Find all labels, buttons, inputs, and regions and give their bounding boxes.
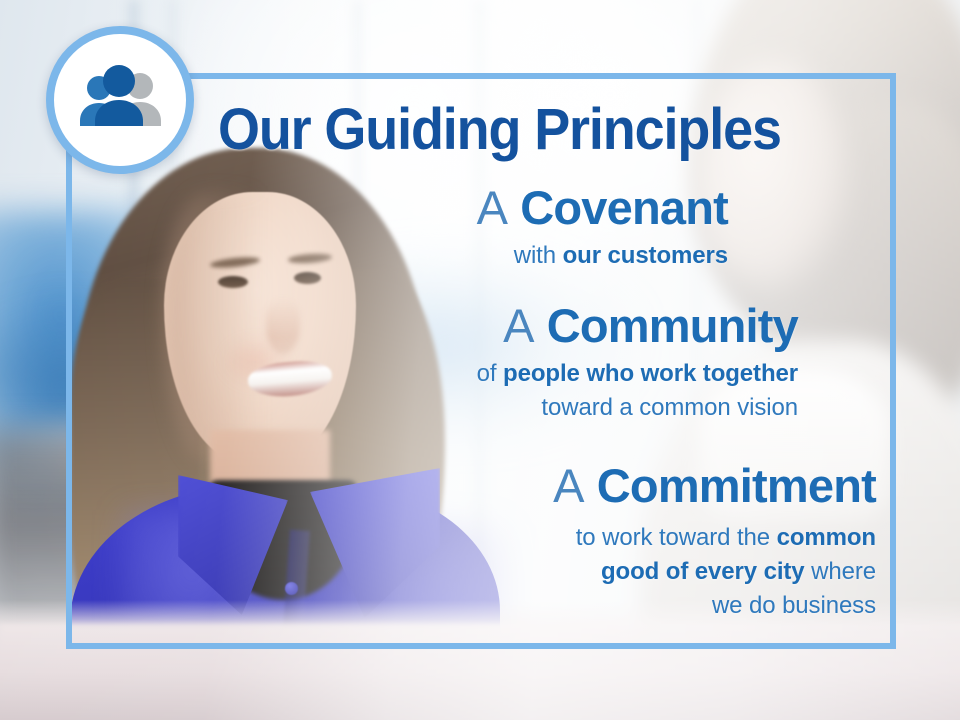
subtext-line: toward a common vision — [477, 391, 798, 425]
subtext-line: we do business — [553, 589, 876, 623]
principle-community: A Community of people who work together … — [477, 301, 798, 425]
subtext-span-bold: our customers — [563, 242, 728, 269]
subtext-line: of people who work together — [477, 357, 798, 391]
subtext-span: we do business — [712, 592, 876, 619]
subtext-line: with our customers — [514, 242, 728, 269]
subtext-line: good of every city where — [553, 555, 876, 589]
subtext-span: of — [477, 360, 503, 387]
principle-keyword: Community — [547, 299, 798, 352]
subtext-span: toward a common vision — [541, 394, 798, 421]
principle-article: A — [503, 299, 534, 352]
principle-keyword: Commitment — [597, 459, 876, 512]
principle-covenant: A Covenant with our customers — [477, 183, 728, 273]
principle-commitment: A Commitment to work toward the common g… — [553, 461, 876, 623]
principle-keyword: Covenant — [520, 181, 728, 234]
guiding-principles-graphic: FLOW AUTOMOTIVE FLOW — [0, 0, 960, 720]
subtext-span-bold: good of every city — [601, 558, 805, 585]
principle-headline: A Covenant — [477, 183, 728, 233]
principle-subtext: with our customers — [477, 239, 728, 273]
principle-headline: A Commitment — [553, 461, 876, 511]
principle-headline: A Community — [477, 301, 798, 351]
subtext-span: to work toward the — [576, 524, 777, 551]
page-title: Our Guiding Principles — [218, 101, 781, 159]
principle-subtext: of people who work together toward a com… — [477, 357, 798, 425]
text-content: Our Guiding Principles A Covenant with o… — [66, 73, 896, 649]
principle-article: A — [553, 459, 584, 512]
subtext-span: where — [805, 558, 876, 585]
principle-article: A — [477, 181, 508, 234]
subtext-span: with — [514, 242, 563, 269]
subtext-span-bold: common — [777, 524, 876, 551]
principle-subtext: to work toward the common good of every … — [553, 521, 876, 623]
subtext-line: to work toward the common — [553, 521, 876, 555]
subtext-span-bold: people who work together — [503, 360, 798, 387]
